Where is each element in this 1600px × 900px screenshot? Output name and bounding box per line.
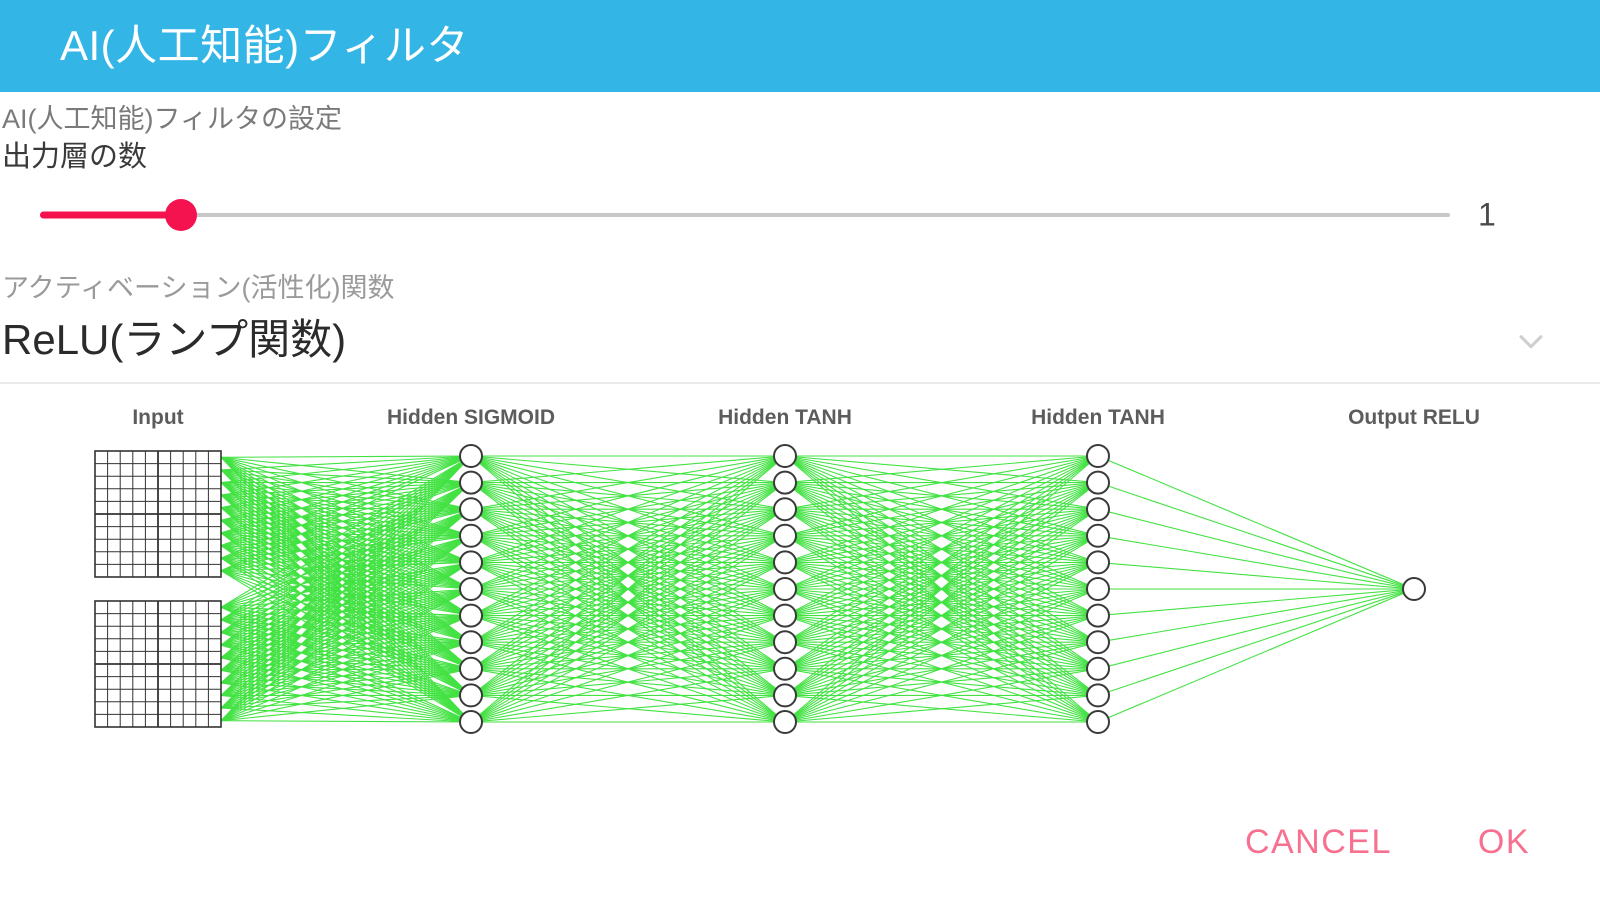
network-node (460, 711, 482, 733)
dialog-titlebar: AI(人工知能)フィルタ (0, 0, 1600, 92)
network-layer-3 (1087, 445, 1109, 733)
network-node (1087, 578, 1109, 600)
layer-label-2: Hidden TANH (718, 406, 852, 429)
network-node (774, 711, 796, 733)
network-node (774, 498, 796, 520)
settings-section-label: AI(人工知能)フィルタの設定 (0, 102, 1600, 138)
network-layer-0 (95, 451, 221, 727)
network-node (1087, 631, 1109, 653)
network-node (1087, 657, 1109, 679)
output-layers-slider[interactable] (40, 193, 1450, 237)
neural-network-canvas: InputHidden SIGMOIDHidden TANHHidden TAN… (0, 384, 1600, 774)
network-node (460, 631, 482, 653)
network-node (774, 445, 796, 467)
network-node (1087, 551, 1109, 573)
layer-label-4: Output RELU (1348, 406, 1480, 429)
network-node (460, 471, 482, 493)
network-node (774, 551, 796, 573)
input-grid-block (95, 451, 221, 577)
input-grid-block (95, 601, 221, 727)
network-node (1403, 578, 1425, 600)
network-node (1087, 445, 1109, 467)
ok-button[interactable]: OK (1468, 817, 1540, 868)
cancel-button[interactable]: CANCEL (1235, 817, 1402, 868)
network-node (774, 684, 796, 706)
activation-function-select[interactable]: ReLU(ランプ関数) (0, 305, 1600, 381)
network-node (460, 524, 482, 546)
network-node (460, 578, 482, 600)
network-node (1087, 711, 1109, 733)
network-node (1087, 684, 1109, 706)
output-layers-label: 出力層の数 (0, 138, 1600, 177)
settings-section: AI(人工知能)フィルタの設定 出力層の数 1 アクティベーション(活性化)関数… (0, 92, 1600, 384)
network-node (774, 631, 796, 653)
network-node (460, 445, 482, 467)
layer-label-0: Input (132, 406, 183, 429)
network-node (774, 471, 796, 493)
network-node (460, 604, 482, 626)
slider-thumb[interactable] (165, 199, 197, 231)
activation-function-value: ReLU(ランプ関数) (2, 317, 346, 363)
network-node (460, 684, 482, 706)
dialog-title: AI(人工知能)フィルタ (60, 25, 469, 67)
network-node (1087, 498, 1109, 520)
layer-label-1: Hidden SIGMOID (387, 406, 555, 429)
slider-track-fill (40, 212, 181, 219)
network-node (460, 498, 482, 520)
network-layer-2 (774, 445, 796, 733)
network-node (774, 657, 796, 679)
slider-value: 1 (1478, 197, 1496, 234)
activation-function-label: アクティベーション(活性化)関数 (0, 266, 1600, 305)
chevron-down-icon (1514, 324, 1548, 358)
layer-label-3: Hidden TANH (1031, 406, 1165, 429)
network-layer-1 (460, 445, 482, 733)
network-node (460, 551, 482, 573)
ai-filter-dialog: AI(人工知能)フィルタ AI(人工知能)フィルタの設定 出力層の数 1 アクテ… (0, 0, 1600, 900)
network-node (1087, 604, 1109, 626)
network-node (774, 524, 796, 546)
network-node (1087, 524, 1109, 546)
slider-track[interactable] (40, 213, 1450, 217)
network-node (774, 604, 796, 626)
output-layers-slider-row: 1 (0, 176, 1600, 254)
network-layer-4 (1403, 578, 1425, 600)
network-node (1087, 471, 1109, 493)
network-node (460, 657, 482, 679)
network-node (774, 578, 796, 600)
dialog-footer: CANCEL OK (1235, 817, 1600, 868)
network-edges (221, 456, 1414, 722)
